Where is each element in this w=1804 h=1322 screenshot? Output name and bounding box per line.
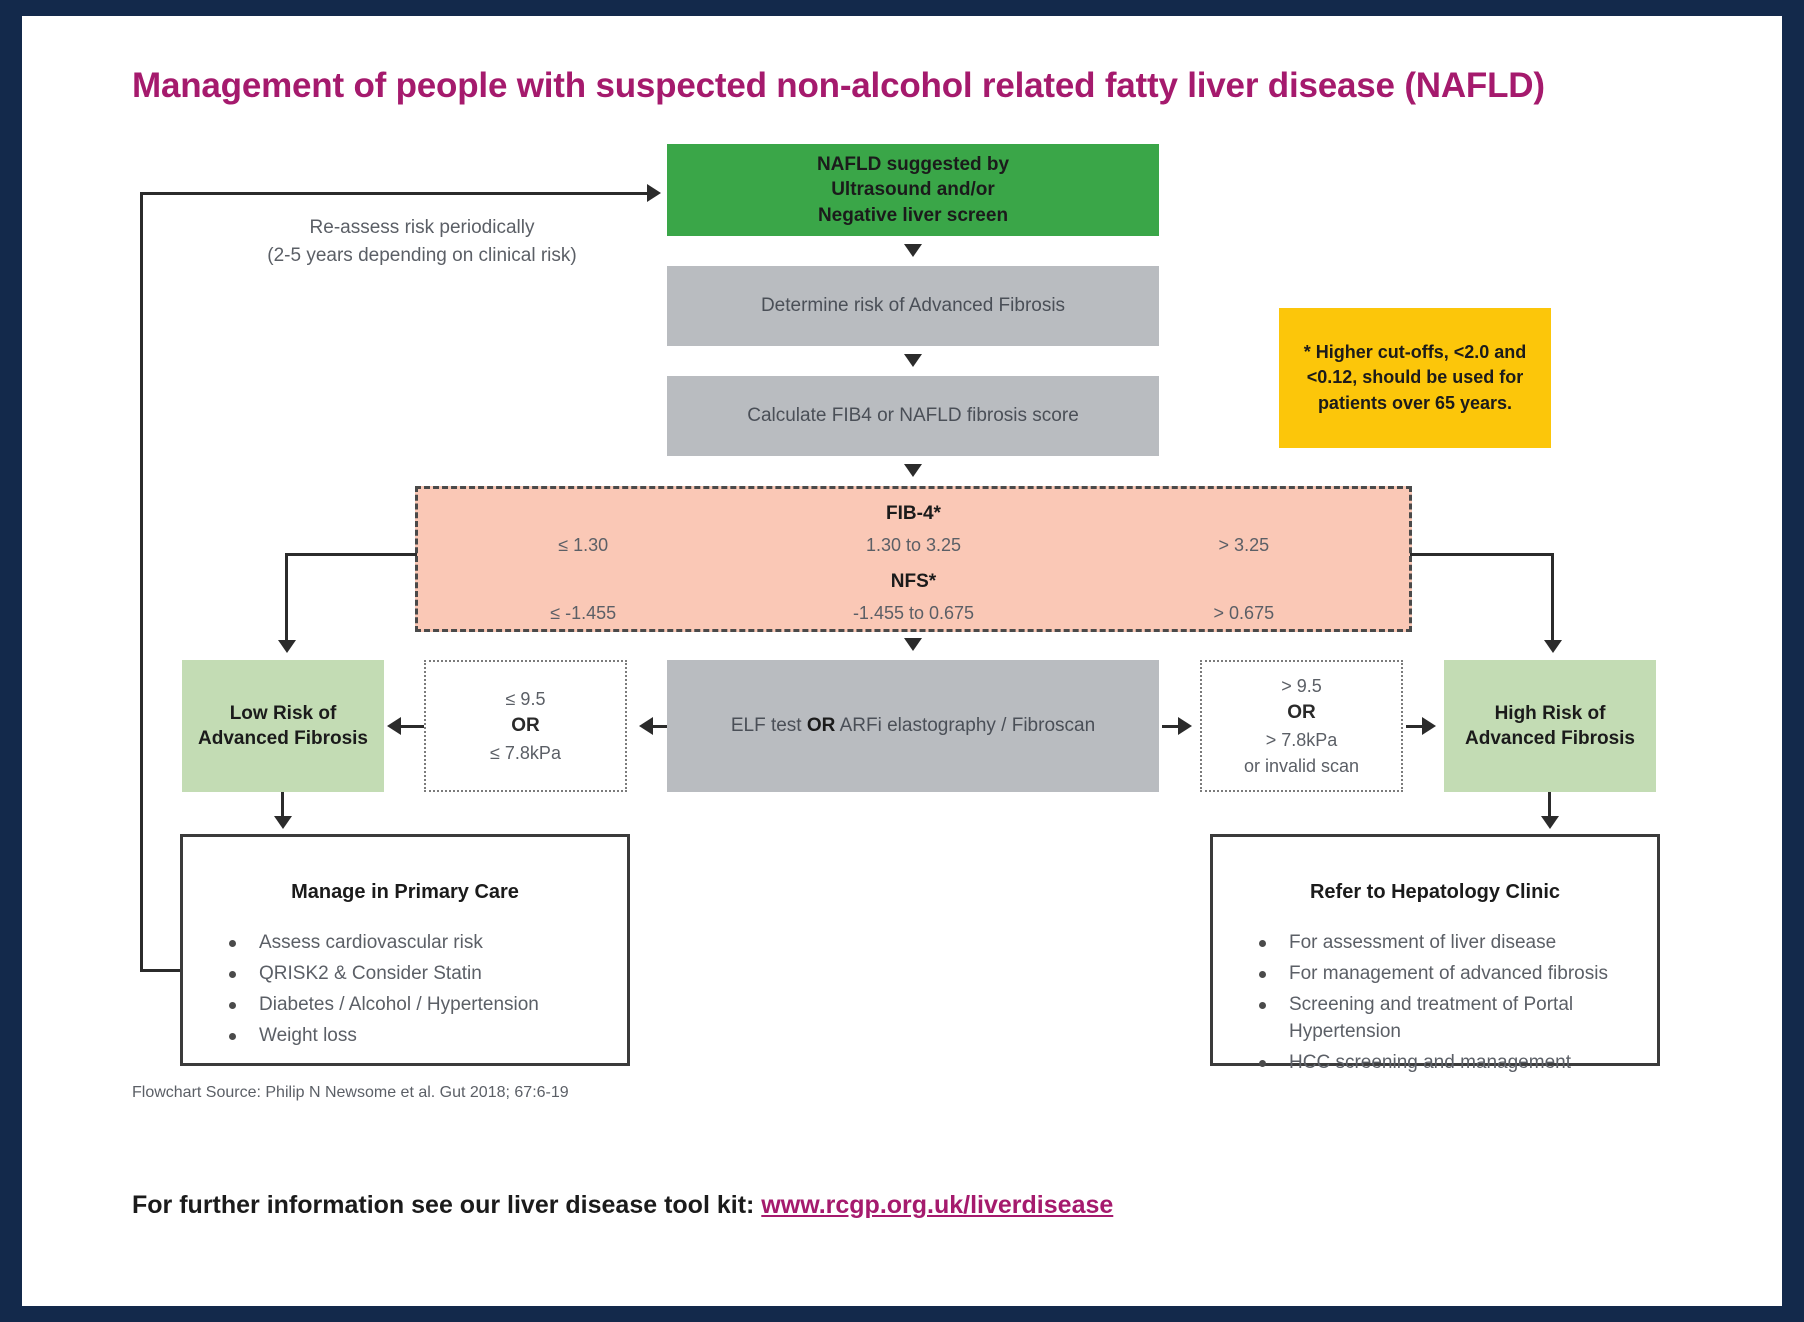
arrow-highthreshold-to-highrisk <box>1422 717 1436 735</box>
feedback-loop-bottom <box>140 969 180 972</box>
feedback-loop-top <box>140 192 650 195</box>
list-item: Diabetes / Alcohol / Hypertension <box>229 992 627 1019</box>
primary-care-list: Assess cardiovascular risk QRISK2 & Cons… <box>183 930 627 1050</box>
node-calculate-score[interactable]: Calculate FIB4 or NAFLD fibrosis score <box>667 376 1159 456</box>
fib4-header: FIB-4* <box>748 503 1078 525</box>
nfs-high-value: > 0.675 <box>1079 603 1409 624</box>
fib4-high: . > 3.25 <box>1079 503 1409 556</box>
high-risk-line1: High Risk of <box>1465 701 1635 726</box>
elf-test-text: ELF test OR ARFi elastography / Fibrosca… <box>731 713 1095 738</box>
fib4-high-value: > 3.25 <box>1079 535 1409 556</box>
node-nafld-suggested[interactable]: NAFLD suggested by Ultrasound and/or Neg… <box>667 144 1159 236</box>
high-risk-line2: Advanced Fibrosis <box>1465 726 1635 751</box>
arrow-nafld-to-determine <box>904 244 922 257</box>
panel-manage-primary-care[interactable]: Manage in Primary Care Assess cardiovasc… <box>180 834 630 1066</box>
list-item: Assess cardiovascular risk <box>229 930 627 957</box>
reassess-note-line2: (2-5 years depending on clinical risk) <box>207 242 637 270</box>
nfs-mid: NFS* -1.455 to 0.675 <box>748 571 1078 624</box>
reassess-note-line1: Re-assess risk periodically <box>207 214 637 242</box>
arrow-determine-to-calculate <box>904 354 922 367</box>
arrow-elf-low-line <box>653 725 667 728</box>
nafld-line3: Negative liver screen <box>817 203 1009 228</box>
primary-care-title: Manage in Primary Care <box>183 881 627 904</box>
callout-line1: * Higher cut-offs, <2.0 and <box>1304 340 1527 366</box>
nafld-line1: NAFLD suggested by <box>817 152 1009 177</box>
threshold-low-line2: ≤ 7.8kPa <box>490 740 561 766</box>
arrow-highthreshold-line <box>1406 725 1422 728</box>
footer-link[interactable]: www.rcgp.org.uk/liverdisease <box>761 1191 1113 1219</box>
branch-right-vertical <box>1551 553 1554 643</box>
nfs-low: . ≤ -1.455 <box>418 571 748 624</box>
nfs-high: . > 0.675 <box>1079 571 1409 624</box>
nfs-header: NFS* <box>748 571 1078 593</box>
branch-right-horizontal <box>1410 553 1554 556</box>
page-title: Management of people with suspected non-… <box>132 66 1692 106</box>
footer-text: For further information see our liver di… <box>132 1191 761 1219</box>
branch-left-horizontal <box>285 553 417 556</box>
list-item: Screening and treatment of Portal Hypert… <box>1259 992 1657 1046</box>
list-item: QRISK2 & Consider Statin <box>229 961 627 988</box>
callout-line3: patients over 65 years. <box>1304 391 1527 417</box>
list-item: HCC screening and management <box>1259 1050 1657 1077</box>
threshold-low: ≤ 9.5 OR ≤ 7.8kPa <box>424 660 627 792</box>
node-high-risk[interactable]: High Risk of Advanced Fibrosis <box>1444 660 1656 792</box>
threshold-high-line1: > 9.5 <box>1281 673 1322 699</box>
threshold-high-or: OR <box>1287 699 1316 727</box>
callout-line2: <0.12, should be used for <box>1304 365 1527 391</box>
flowchart-canvas: Management of people with suspected non-… <box>22 16 1782 1306</box>
node-elf-test[interactable]: ELF test OR ARFi elastography / Fibrosca… <box>667 660 1159 792</box>
arrow-lowrisk-to-primarycare <box>274 816 292 829</box>
node-determine-risk[interactable]: Determine risk of Advanced Fibrosis <box>667 266 1159 346</box>
flowchart-source: Flowchart Source: Philip N Newsome et al… <box>132 1084 569 1102</box>
arrow-lowthreshold-to-lowrisk <box>387 717 401 735</box>
branch-left-vertical <box>285 553 288 643</box>
arrow-elf-to-lowthreshold <box>639 717 653 735</box>
arrow-calculate-to-scores <box>904 464 922 477</box>
list-item: Weight loss <box>229 1023 627 1050</box>
arrow-scores-to-elf <box>904 638 922 651</box>
nfs-row: . ≤ -1.455 NFS* -1.455 to 0.675 . > 0.67… <box>418 571 1409 624</box>
score-threshold-table: . ≤ 1.30 FIB-4* 1.30 to 3.25 . > 3.25 . … <box>415 486 1412 632</box>
list-item: For management of advanced fibrosis <box>1259 961 1657 988</box>
arrow-elf-high-line <box>1162 725 1178 728</box>
threshold-high: > 9.5 OR > 7.8kPa or invalid scan <box>1200 660 1403 792</box>
panel-refer-hepatology[interactable]: Refer to Hepatology Clinic For assessmen… <box>1210 834 1660 1066</box>
low-risk-line1: Low Risk of <box>198 701 368 726</box>
callout-higher-cutoffs: * Higher cut-offs, <2.0 and <0.12, shoul… <box>1279 308 1551 448</box>
threshold-low-or: OR <box>511 712 540 740</box>
threshold-low-line1: ≤ 9.5 <box>506 686 546 712</box>
arrow-elf-to-highthreshold <box>1178 717 1192 735</box>
footer-info: For further information see our liver di… <box>132 1191 1113 1220</box>
nfs-low-value: ≤ -1.455 <box>418 603 748 624</box>
page-frame: Management of people with suspected non-… <box>0 0 1804 1322</box>
branch-right-arrowhead <box>1544 640 1562 653</box>
hepatology-title: Refer to Hepatology Clinic <box>1213 881 1657 904</box>
reassess-note: Re-assess risk periodically (2-5 years d… <box>207 214 637 269</box>
feedback-loop-vertical <box>140 192 143 972</box>
fib4-low-value: ≤ 1.30 <box>418 535 748 556</box>
branch-left-arrowhead <box>278 640 296 653</box>
threshold-high-line3: or invalid scan <box>1244 753 1359 779</box>
fib4-mid: FIB-4* 1.30 to 3.25 <box>748 503 1078 556</box>
fib4-low: . ≤ 1.30 <box>418 503 748 556</box>
arrow-lowthreshold-line <box>401 725 426 728</box>
low-risk-line2: Advanced Fibrosis <box>198 726 368 751</box>
threshold-high-line2: > 7.8kPa <box>1266 727 1338 753</box>
list-item: For assessment of liver disease <box>1259 930 1657 957</box>
nafld-line2: Ultrasound and/or <box>817 177 1009 202</box>
feedback-loop-arrowhead <box>647 184 661 202</box>
arrow-highrisk-to-hepatology <box>1541 816 1559 829</box>
fib4-row: . ≤ 1.30 FIB-4* 1.30 to 3.25 . > 3.25 <box>418 503 1409 556</box>
node-low-risk[interactable]: Low Risk of Advanced Fibrosis <box>182 660 384 792</box>
nfs-mid-value: -1.455 to 0.675 <box>748 603 1078 624</box>
hepatology-list: For assessment of liver disease For mana… <box>1213 930 1657 1077</box>
fib4-mid-value: 1.30 to 3.25 <box>748 535 1078 556</box>
